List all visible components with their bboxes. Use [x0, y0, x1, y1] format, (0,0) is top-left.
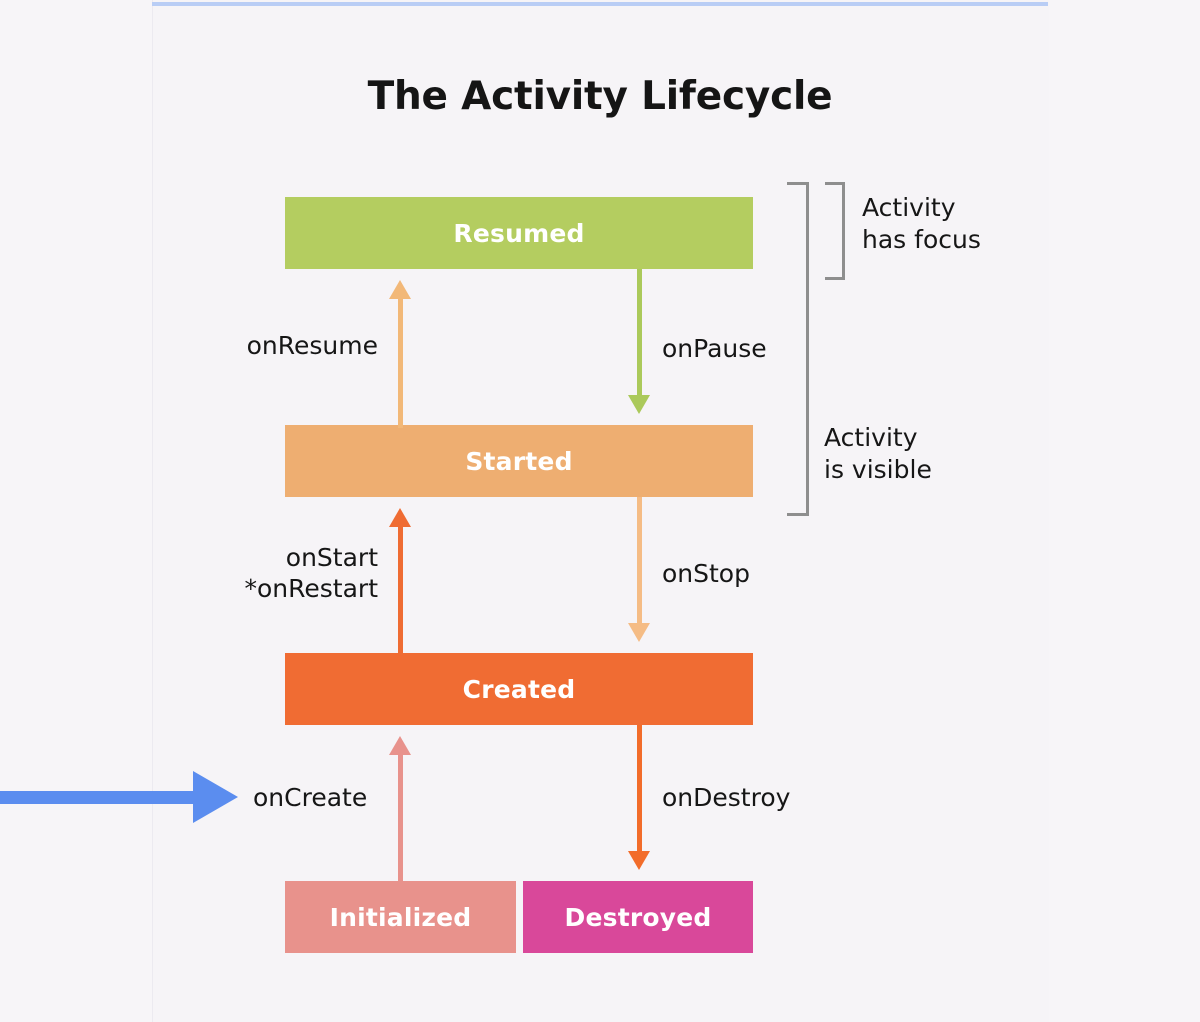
- arrow-shaft-on-destroy: [637, 725, 642, 851]
- state-box-initialized[interactable]: Initialized: [285, 881, 516, 953]
- page-title: The Activity Lifecycle: [0, 76, 1200, 119]
- annotation-arrow-shaft: [0, 791, 195, 804]
- annotation-arrow-head: [193, 771, 238, 823]
- state-box-resumed[interactable]: Resumed: [285, 197, 753, 269]
- arrow-shaft-on-stop: [637, 497, 642, 623]
- arrow-shaft-on-start: [398, 526, 403, 656]
- edge-label-on-stop: onStop: [662, 559, 882, 590]
- bracket-has-focus: [825, 182, 845, 280]
- state-box-started[interactable]: Started: [285, 425, 753, 497]
- state-box-created[interactable]: Created: [285, 653, 753, 725]
- arrow-shaft-on-resume: [398, 298, 403, 428]
- arrow-shaft-on-create: [398, 754, 403, 884]
- scope-label-has-focus: Activity has focus: [862, 192, 1102, 255]
- bracket-is-visible: [787, 182, 809, 516]
- page-canvas: The Activity Lifecycle Resumed Started C…: [0, 0, 1200, 1022]
- arrow-shaft-on-pause: [637, 269, 642, 395]
- activity-lifecycle-diagram: The Activity Lifecycle Resumed Started C…: [0, 0, 1200, 1022]
- edge-label-on-destroy: onDestroy: [662, 783, 902, 814]
- scope-label-is-visible: Activity is visible: [824, 422, 1064, 485]
- edge-label-on-start: onStart *onRestart: [178, 543, 378, 604]
- arrow-head-on-destroy: [628, 851, 650, 870]
- edge-label-on-create: onCreate: [253, 783, 453, 814]
- arrow-head-on-create: [389, 736, 411, 755]
- edge-label-on-pause: onPause: [662, 334, 882, 365]
- state-box-destroyed[interactable]: Destroyed: [523, 881, 753, 953]
- arrow-head-on-stop: [628, 623, 650, 642]
- arrow-head-on-pause: [628, 395, 650, 414]
- arrow-head-on-start: [389, 508, 411, 527]
- arrow-head-on-resume: [389, 280, 411, 299]
- edge-label-on-resume: onResume: [178, 331, 378, 362]
